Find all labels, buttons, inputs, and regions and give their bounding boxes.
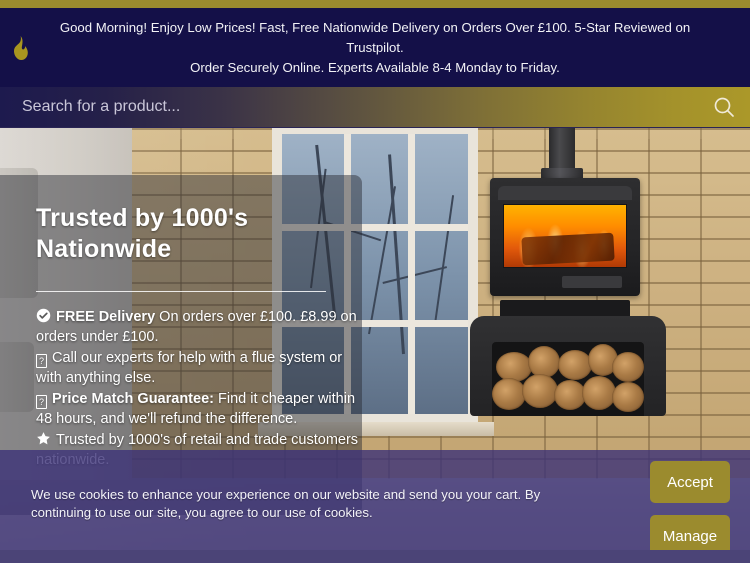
hero-content: Trusted by 1000's Nationwide FREE Delive… xyxy=(36,203,366,472)
cookie-accept-button[interactable]: Accept xyxy=(650,461,730,503)
benefit-strong-0: FREE Delivery xyxy=(56,309,155,325)
search-icon xyxy=(713,96,735,118)
cookie-consent-banner: We use cookies to enhance your experienc… xyxy=(0,450,750,550)
window-mullion-vertical xyxy=(408,134,415,414)
burning-logs xyxy=(521,233,614,266)
hero-benefit-item: FREE Delivery On orders over £100. £8.99… xyxy=(36,308,366,347)
brand-flame-icon-wrap xyxy=(0,36,40,60)
bottom-band xyxy=(0,550,750,563)
hero-benefit-item: ?Call our experts for help with a flue s… xyxy=(36,349,366,388)
stacked-log xyxy=(496,352,532,382)
stove-door-handle xyxy=(562,276,622,288)
benefit-text-1: Call our experts for help with a flue sy… xyxy=(36,350,342,386)
search-bar[interactable] xyxy=(0,87,750,128)
hero-benefits-list: FREE Delivery On orders over £100. £8.99… xyxy=(36,308,366,470)
announcement-bar: Good Morning! Enjoy Low Prices! Fast, Fr… xyxy=(0,8,750,87)
stove-top-band xyxy=(498,186,632,200)
stacked-log xyxy=(522,374,558,408)
stacked-log xyxy=(492,378,526,410)
announcement-text: Good Morning! Enjoy Low Prices! Fast, Fr… xyxy=(40,18,750,78)
stacked-log xyxy=(612,382,644,412)
cookie-message: We use cookies to enhance your experienc… xyxy=(31,486,603,522)
hero-divider xyxy=(36,291,326,292)
stove-fire-window xyxy=(503,204,627,268)
search-input[interactable] xyxy=(0,87,698,127)
top-gold-strip xyxy=(0,0,750,8)
stacked-log xyxy=(612,352,644,382)
benefit-strong-2: Price Match Guarantee: xyxy=(52,391,214,407)
cookie-actions: Accept Manage xyxy=(650,461,730,557)
flame-icon xyxy=(12,36,29,60)
stove-flue-pipe xyxy=(549,128,575,173)
search-submit-button[interactable] xyxy=(698,87,750,127)
missing-glyph-icon: ? xyxy=(36,354,47,368)
missing-glyph-icon: ? xyxy=(36,395,47,409)
hero-title: Trusted by 1000's Nationwide xyxy=(36,203,366,265)
star-icon xyxy=(36,431,51,446)
announcement-line-1: Good Morning! Enjoy Low Prices! Fast, Fr… xyxy=(60,20,690,55)
check-circle-icon xyxy=(36,308,51,323)
log-store-opening xyxy=(492,342,644,416)
hero-benefit-item: ?Price Match Guarantee: Find it cheaper … xyxy=(36,390,366,429)
stacked-log xyxy=(558,350,592,380)
announcement-line-2: Order Securely Online. Experts Available… xyxy=(40,58,710,78)
page-root: Good Morning! Enjoy Low Prices! Fast, Fr… xyxy=(0,0,750,563)
stacked-log xyxy=(582,376,616,410)
stacked-log xyxy=(528,346,560,378)
